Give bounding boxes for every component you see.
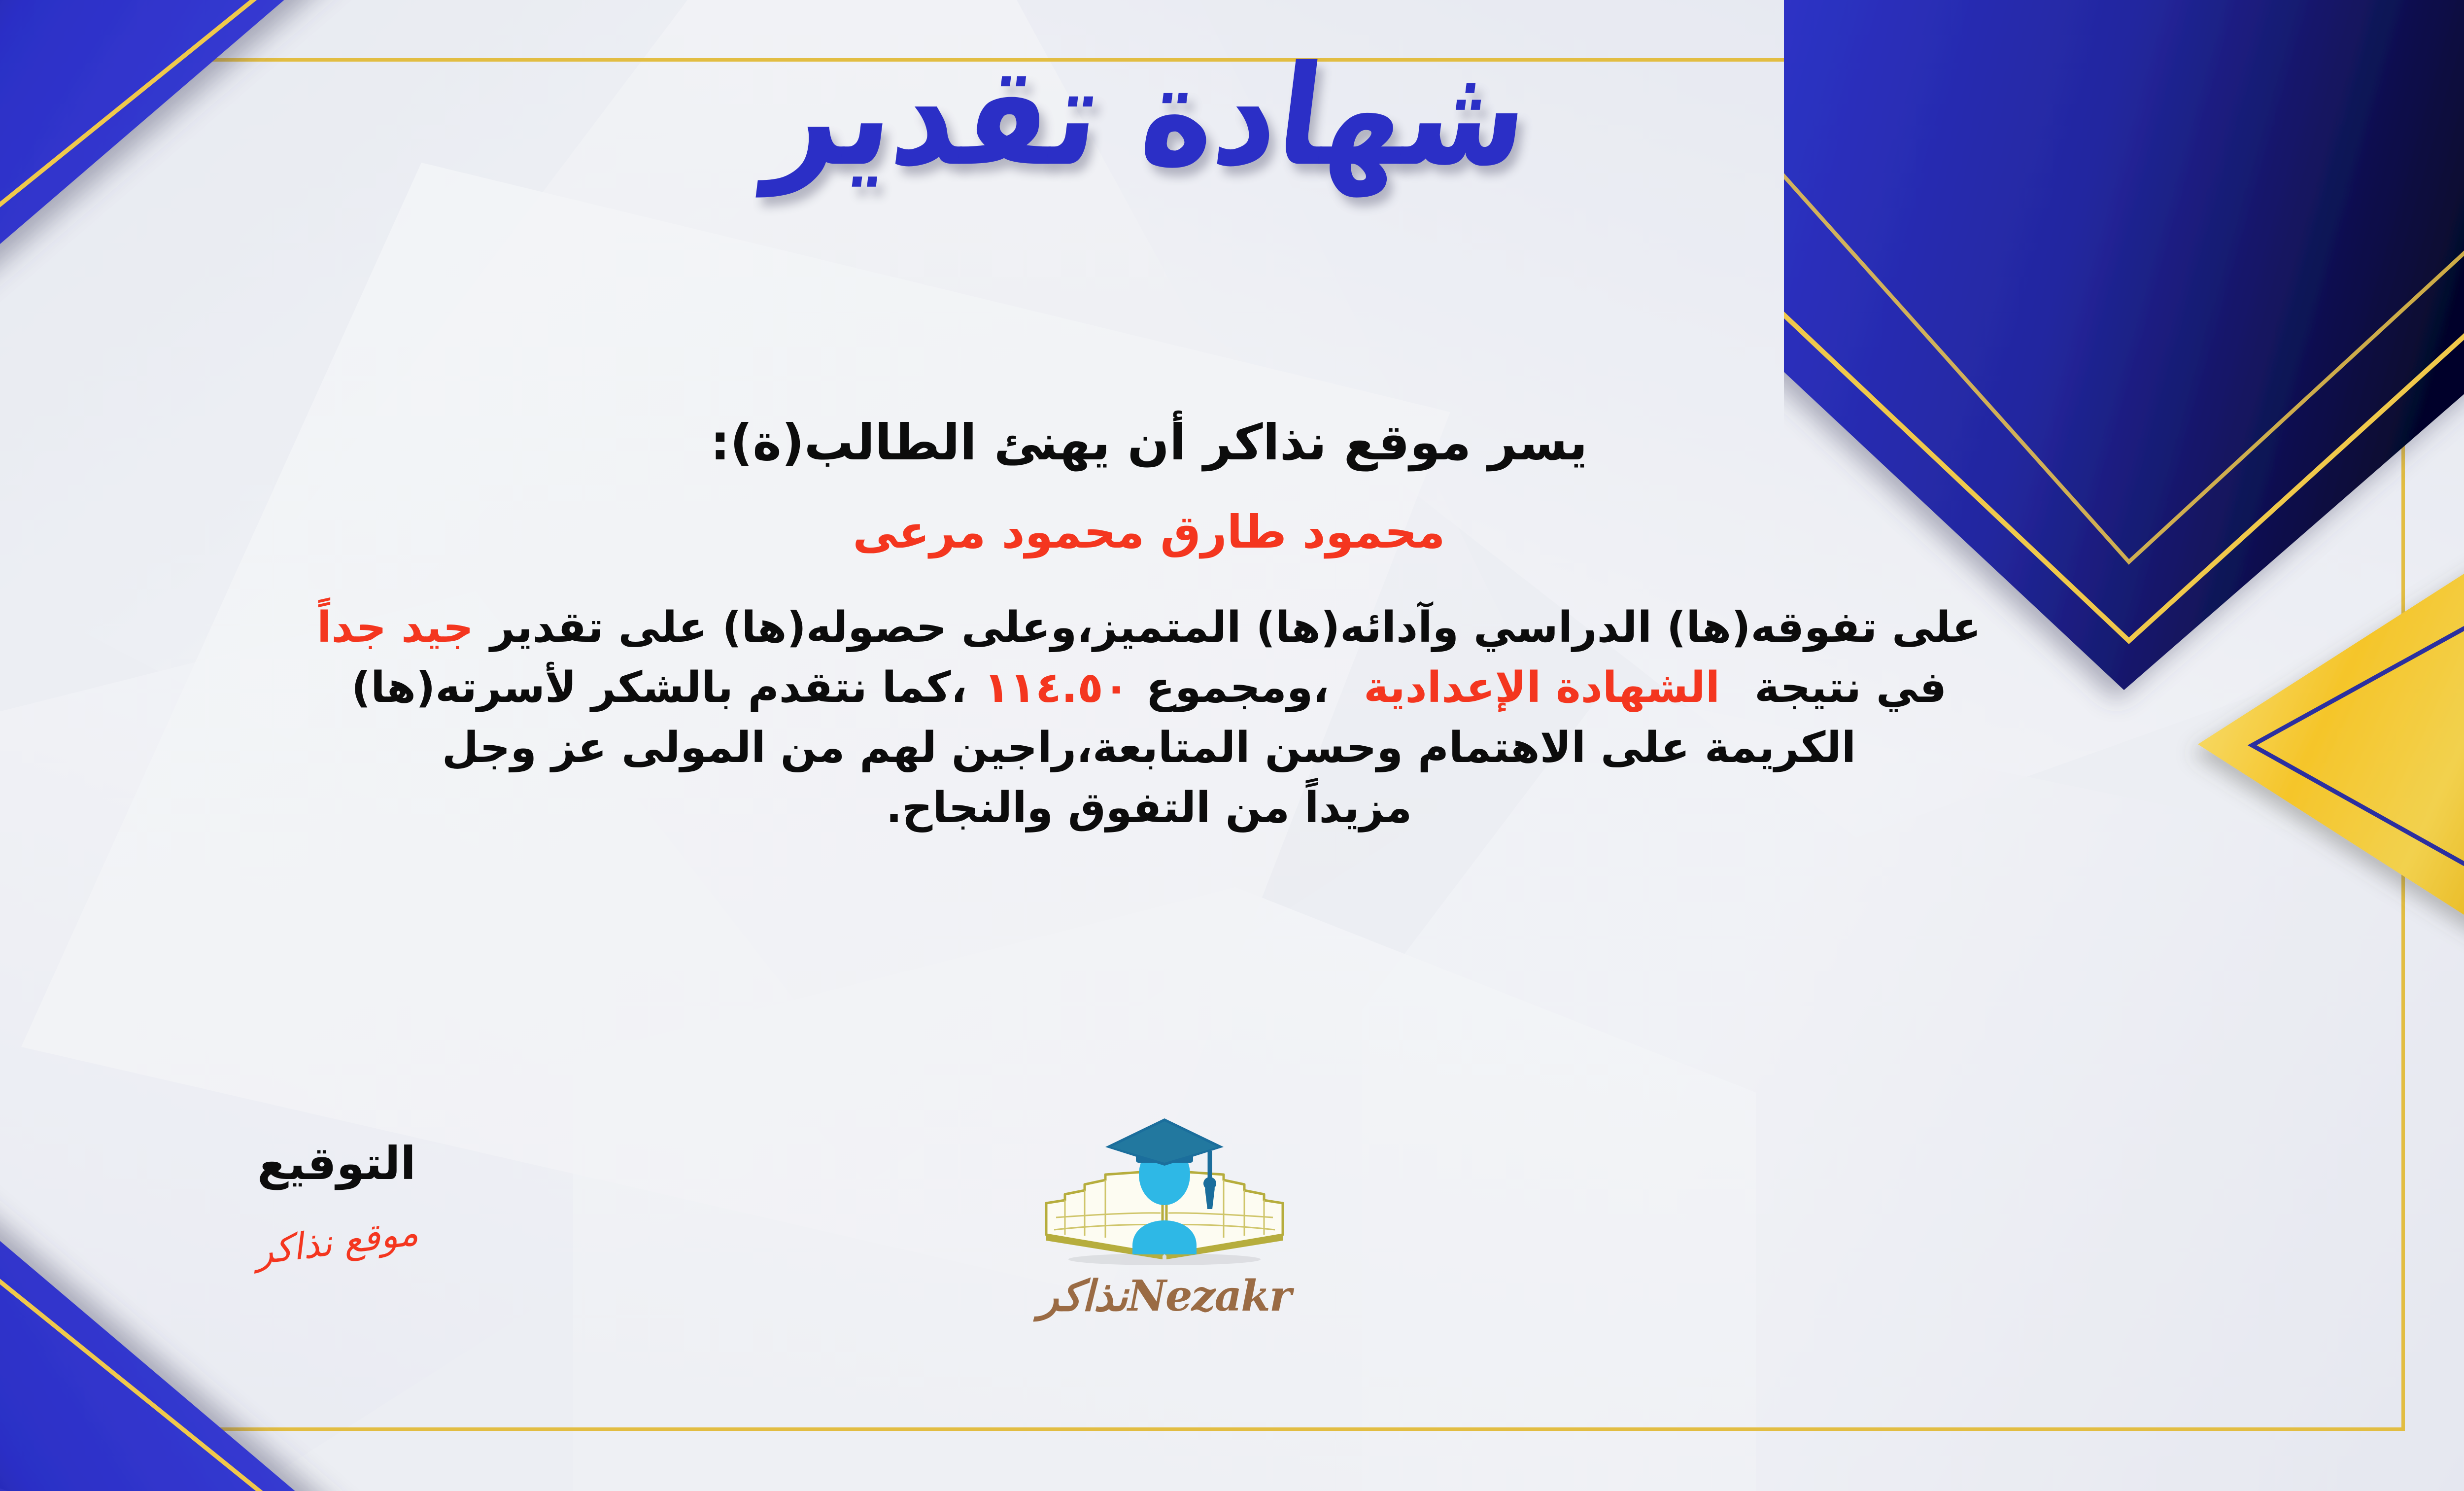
citation-line-3: الكريمة على الاهتمام وحسن المتابعة،راجين…	[442, 723, 1856, 772]
citation-line-2b: ،ومجموع	[1146, 663, 1329, 712]
certificate-title-block: شهادة تقدير	[0, 52, 2464, 181]
page-title: شهادة تقدير	[762, 44, 1536, 189]
logo-name-arabic: نذاكر	[1038, 1271, 1128, 1321]
grade-value: جيد جداً	[317, 603, 474, 652]
total-score: ١١٤.٥٠	[984, 663, 1129, 712]
organization-logo: Nezakrنذاكر	[967, 1111, 1362, 1321]
logo-name-latin: Nezakr	[1128, 1271, 1291, 1321]
certificate-body: يسر موقع نذاكر أن يهنئ الطالب(ة): محمود …	[0, 409, 2301, 838]
citation-paragraph: على تفوقه(ها) الدراسي وآدائه(ها) المتميز…	[0, 597, 2301, 838]
signature-label: التوقيع	[208, 1139, 465, 1188]
signature-block: التوقيع موقع نذاكر	[208, 1139, 465, 1263]
citation-line-2a: في نتيجة	[1754, 663, 1947, 712]
citation-line-2c: ،كما نتقدم بالشكر لأسرته(ها)	[351, 663, 967, 712]
graduate-open-book-icon	[1027, 1111, 1302, 1274]
logo-wordmark: Nezakrنذاكر	[967, 1271, 1362, 1321]
citation-line-1: على تفوقه(ها) الدراسي وآدائه(ها) المتميز…	[490, 603, 1981, 652]
certificate-page: شهادة تقدير يسر موقع نذاكر أن يهنئ الطال…	[0, 0, 2464, 1491]
student-name: محمود طارق محمود مرعى	[0, 503, 2301, 562]
greeting-line: يسر موقع نذاكر أن يهنئ الطالب(ة):	[0, 409, 2301, 476]
citation-line-4: مزيداً من التفوق والنجاح.	[886, 783, 1412, 832]
exam-name: الشهادة الإعدادية	[1364, 663, 1720, 712]
